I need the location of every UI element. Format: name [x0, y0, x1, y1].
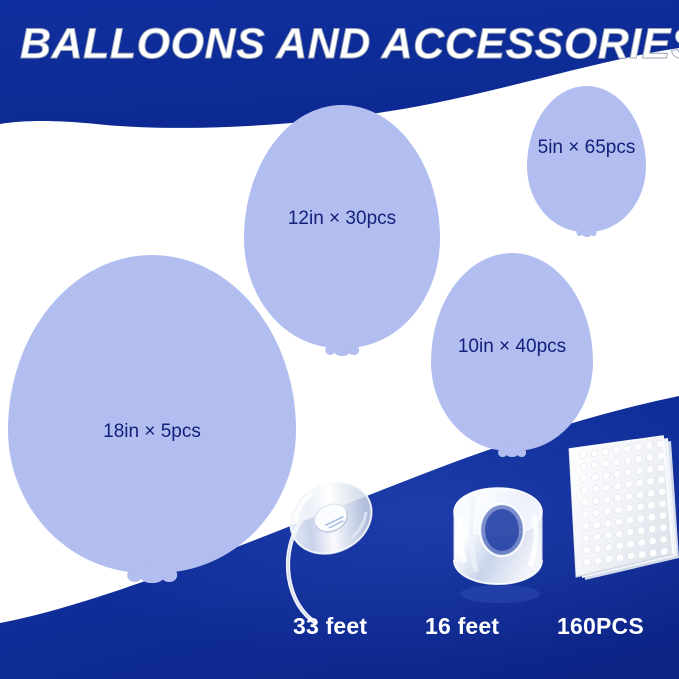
balloon-5in-knot	[580, 226, 593, 236]
balloon-5in-body	[527, 86, 646, 232]
label-glue-dots-sheet: 160PCS	[557, 613, 644, 640]
label-clear-tape-roll: 16 feet	[425, 613, 499, 640]
balloon-12in: 12in × 30pcs	[244, 105, 440, 348]
balloon-5in-label: 5in × 65pcs	[538, 137, 636, 159]
glue-dots-sheet-art	[569, 436, 679, 580]
balloon-18in-label: 18in × 5pcs	[103, 421, 201, 443]
label-glue-dots-unit: PCS	[596, 613, 644, 639]
balloon-12in-knot	[331, 339, 353, 356]
balloon-5in: 5in × 65pcs	[527, 86, 646, 232]
page-title: BALLOONS AND ACCESSORIES	[20, 22, 679, 67]
label-glue-dots-number: 160	[557, 613, 596, 639]
infographic-canvas: BALLOONS AND ACCESSORIES 18in × 5pcs 12i…	[0, 0, 679, 679]
clear-tape-roll-art	[454, 488, 542, 603]
label-ribbon-tape-roll: 33 feet	[293, 613, 367, 640]
ribbon-tape-roll-art	[278, 469, 383, 624]
balloon-10in: 10in × 40pcs	[431, 253, 593, 451]
accessories-artwork	[265, 430, 679, 630]
balloon-12in-label: 12in × 30pcs	[288, 208, 396, 230]
balloon-10in-label: 10in × 40pcs	[458, 336, 566, 358]
balloon-18in-knot	[136, 561, 168, 583]
